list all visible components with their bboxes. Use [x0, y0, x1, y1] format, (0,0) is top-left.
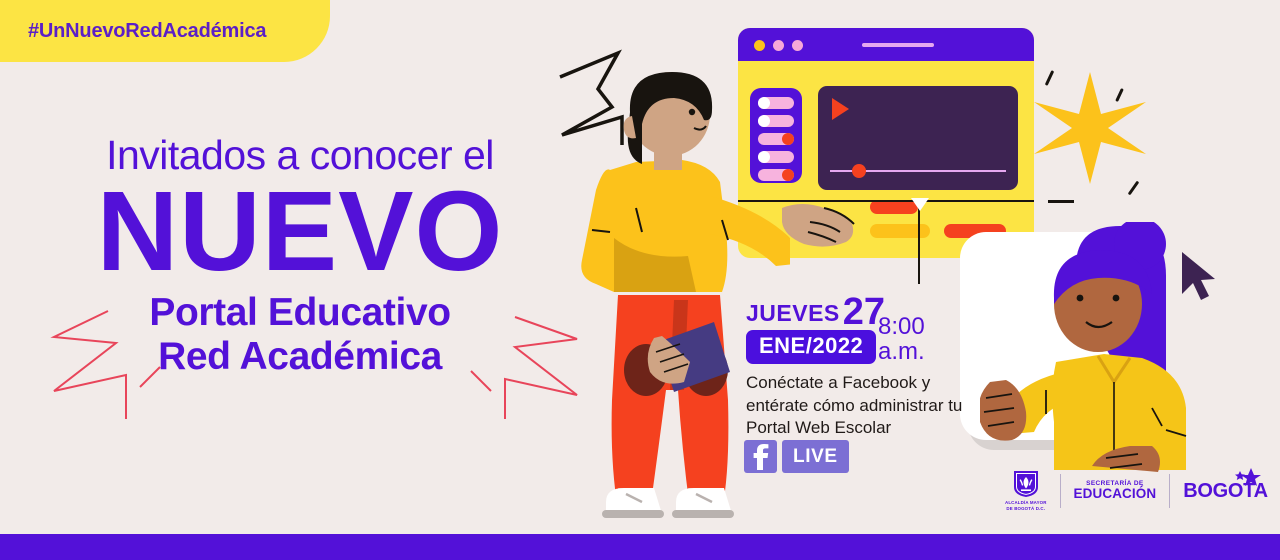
logo-divider-2 [1169, 474, 1170, 508]
red-zigzag-right [465, 295, 605, 420]
event-meridiem: a.m. [878, 340, 925, 365]
shield-caption-line2: DE BOGOTÁ D.C. [1005, 506, 1047, 512]
event-date-row: JUEVES 27 [746, 297, 885, 327]
event-time: 8:00 [878, 315, 925, 340]
browser-title-bar [738, 28, 1034, 61]
event-time-block: 8:00 a.m. [878, 315, 925, 364]
action-pill-yellow [870, 224, 930, 238]
headline-nuevo: NUEVO [40, 178, 560, 285]
yellow-star [1030, 68, 1150, 188]
hashtag-text: #UnNuevoRedAcadémica [28, 20, 266, 43]
bogota-stars-icon [1235, 468, 1265, 486]
window-dot-yellow [754, 40, 765, 51]
facebook-live-badge[interactable]: LIVE [744, 440, 849, 473]
play-triangle-icon [832, 98, 849, 120]
seated-person [980, 222, 1210, 472]
video-player-area [818, 86, 1018, 190]
institutional-logos: ALCALDÍA MAYOR DE BOGOTÁ D.C. SECRETARÍA… [1005, 468, 1268, 514]
window-dot-pink-1 [773, 40, 784, 51]
event-month-year-pill: ENE/2022 [746, 330, 876, 364]
shield-icon [1013, 470, 1039, 498]
facebook-f-icon[interactable] [744, 440, 777, 473]
address-bar [862, 43, 934, 47]
window-dot-pink-2 [792, 40, 803, 51]
educacion-label: EDUCACIÓN [1074, 487, 1157, 502]
event-description: Conéctate a Facebook y entérate cómo adm… [746, 372, 996, 440]
secretaria-educacion-logo: SECRETARÍA DE EDUCACIÓN [1074, 480, 1157, 502]
event-weekday: JUEVES [746, 302, 840, 327]
promotional-banner: #UnNuevoRedAcadémica [0, 0, 1280, 560]
pointing-hand [780, 198, 870, 262]
guide-tick-right [1048, 200, 1074, 203]
hashtag-ribbon: #UnNuevoRedAcadémica [0, 0, 330, 62]
shield-caption: ALCALDÍA MAYOR DE BOGOTÁ D.C. [1005, 500, 1047, 512]
bogota-city-logo: BOGOTA [1183, 480, 1268, 503]
bogota-coat-of-arms: ALCALDÍA MAYOR DE BOGOTÁ D.C. [1005, 470, 1047, 512]
logo-divider-1 [1060, 474, 1061, 508]
red-zigzag-left [48, 295, 198, 420]
bottom-accent-bar [0, 534, 1280, 560]
live-label[interactable]: LIVE [782, 440, 849, 473]
guide-line-vertical [918, 200, 920, 284]
guide-marker-triangle [911, 198, 929, 212]
event-date-block: JUEVES 27 ENE/2022 8:00 a.m. [746, 297, 885, 364]
scrubber-handle [852, 164, 866, 178]
